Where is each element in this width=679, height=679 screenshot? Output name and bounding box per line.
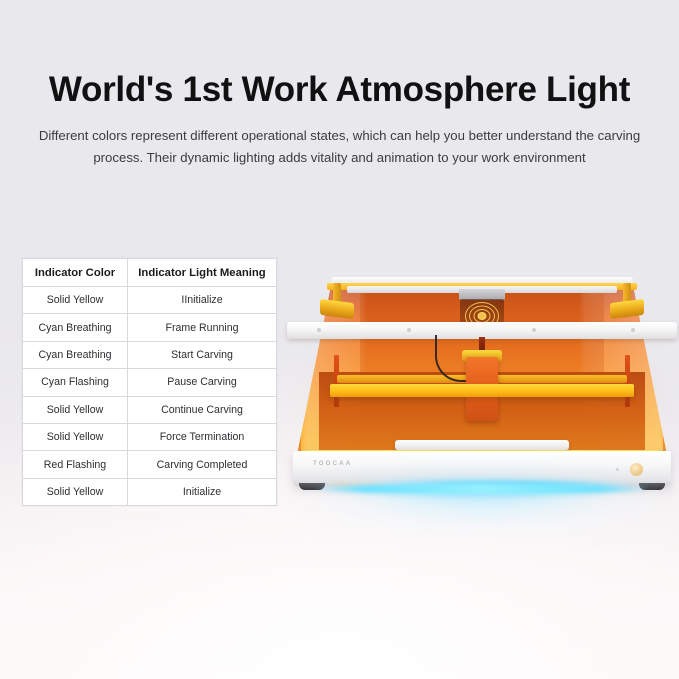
workpiece-board bbox=[395, 440, 569, 450]
beam-screw bbox=[532, 328, 536, 332]
page-title: World's 1st Work Atmosphere Light bbox=[0, 0, 679, 109]
cell-indicator-meaning: Frame Running bbox=[128, 314, 277, 341]
cell-indicator-color: Solid Yellow bbox=[23, 396, 128, 423]
table-row: Cyan Breathing Frame Running bbox=[23, 314, 277, 341]
indicator-table: Indicator Color Indicator Light Meaning … bbox=[22, 258, 277, 506]
enclosure-interior bbox=[301, 335, 663, 457]
cell-indicator-meaning: Start Carving bbox=[128, 341, 277, 368]
cell-indicator-color: Red Flashing bbox=[23, 451, 128, 478]
table-header-row: Indicator Color Indicator Light Meaning bbox=[23, 259, 277, 287]
table-row: Cyan Breathing Start Carving bbox=[23, 341, 277, 368]
cell-indicator-color: Solid Yellow bbox=[23, 423, 128, 450]
indicator-table-container: Indicator Color Indicator Light Meaning … bbox=[22, 258, 276, 506]
table-row: Solid Yellow IInitialize bbox=[23, 287, 277, 314]
cell-indicator-color: Solid Yellow bbox=[23, 287, 128, 314]
table-head: Indicator Color Indicator Light Meaning bbox=[23, 259, 277, 287]
cell-indicator-color: Cyan Breathing bbox=[23, 314, 128, 341]
cell-indicator-color: Cyan Breathing bbox=[23, 341, 128, 368]
column-header-indicator-color: Indicator Color bbox=[23, 259, 128, 287]
page-root: World's 1st Work Atmosphere Light Differ… bbox=[0, 0, 679, 679]
product-image-laser-engraver: TOOCAA bbox=[287, 275, 677, 515]
ambient-light-strip bbox=[317, 484, 647, 494]
cell-indicator-meaning: Continue Carving bbox=[128, 396, 277, 423]
cell-indicator-meaning: Force Termination bbox=[128, 423, 277, 450]
fan-hub bbox=[478, 312, 487, 320]
table-row: Solid Yellow Force Termination bbox=[23, 423, 277, 450]
page-subtitle: Different colors represent different ope… bbox=[33, 109, 647, 168]
column-header-indicator-meaning: Indicator Light Meaning bbox=[128, 259, 277, 287]
beam-screw bbox=[631, 328, 635, 332]
cell-indicator-color: Cyan Flashing bbox=[23, 369, 128, 396]
header-section: World's 1st Work Atmosphere Light Differ… bbox=[0, 0, 679, 168]
beam-screw bbox=[407, 328, 411, 332]
acrylic-edge-right bbox=[663, 280, 667, 455]
cell-indicator-color: Solid Yellow bbox=[23, 478, 128, 505]
table-row: Cyan Flashing Pause Carving bbox=[23, 369, 277, 396]
table-row: Solid Yellow Continue Carving bbox=[23, 396, 277, 423]
gantry-rail-front bbox=[330, 384, 634, 397]
beam-screw bbox=[317, 328, 321, 332]
cell-indicator-meaning: IInitialize bbox=[128, 287, 277, 314]
cell-indicator-meaning: Pause Carving bbox=[128, 369, 277, 396]
